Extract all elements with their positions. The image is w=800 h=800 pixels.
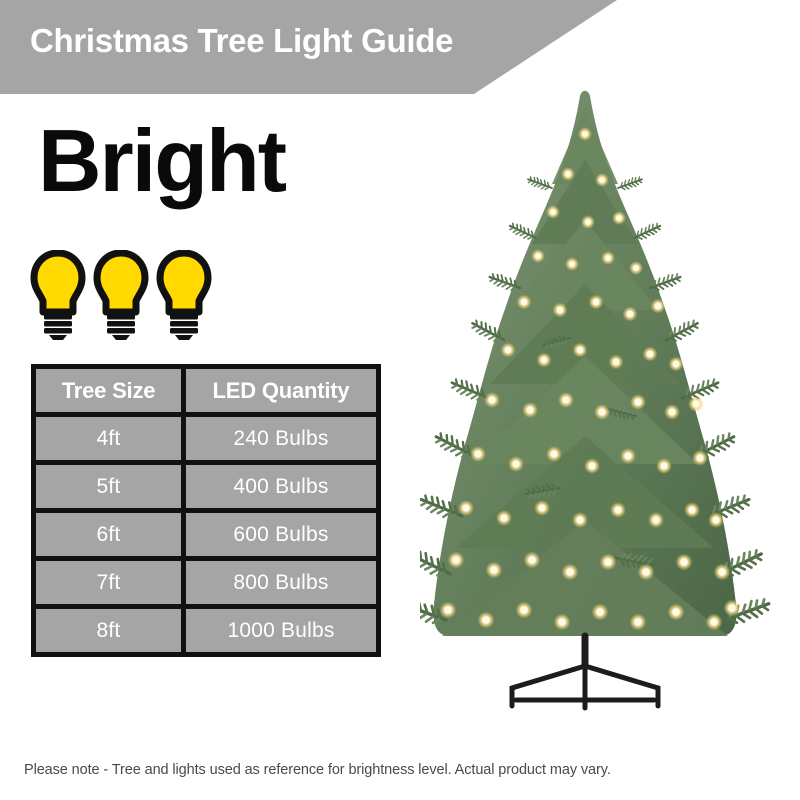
christmas-tree-photo xyxy=(420,88,790,718)
cell-led-quantity: 600 Bulbs xyxy=(186,513,376,556)
table-row: 5ft 400 Bulbs xyxy=(36,465,376,508)
tree-stand xyxy=(512,636,658,708)
cell-led-quantity: 1000 Bulbs xyxy=(186,609,376,652)
table-row: 6ft 600 Bulbs xyxy=(36,513,376,556)
page-title: Christmas Tree Light Guide xyxy=(30,22,453,60)
led-quantity-table: Tree Size LED Quantity 4ft 240 Bulbs 5ft… xyxy=(31,364,381,657)
cell-led-quantity: 400 Bulbs xyxy=(186,465,376,508)
light-guide-infographic: Christmas Tree Light Guide Bright xyxy=(0,0,800,800)
table-header-row: Tree Size LED Quantity xyxy=(36,369,376,412)
brightness-bulb-rating xyxy=(30,250,212,345)
brightness-level-label: Bright xyxy=(38,117,285,205)
table-row: 4ft 240 Bulbs xyxy=(36,417,376,460)
cell-led-quantity: 800 Bulbs xyxy=(186,561,376,604)
column-header-tree-size: Tree Size xyxy=(36,369,181,412)
table-row: 7ft 800 Bulbs xyxy=(36,561,376,604)
cell-tree-size: 4ft xyxy=(36,417,181,460)
disclaimer-note: Please note - Tree and lights used as re… xyxy=(24,762,784,778)
cell-tree-size: 6ft xyxy=(36,513,181,556)
light-bulb-icon xyxy=(156,250,212,345)
cell-tree-size: 7ft xyxy=(36,561,181,604)
cell-tree-size: 8ft xyxy=(36,609,181,652)
table-row: 8ft 1000 Bulbs xyxy=(36,609,376,652)
column-header-led-quantity: LED Quantity xyxy=(186,369,376,412)
cell-tree-size: 5ft xyxy=(36,465,181,508)
tree-foliage xyxy=(420,91,772,636)
light-bulb-icon xyxy=(93,250,149,345)
light-bulb-icon xyxy=(30,250,86,345)
cell-led-quantity: 240 Bulbs xyxy=(186,417,376,460)
